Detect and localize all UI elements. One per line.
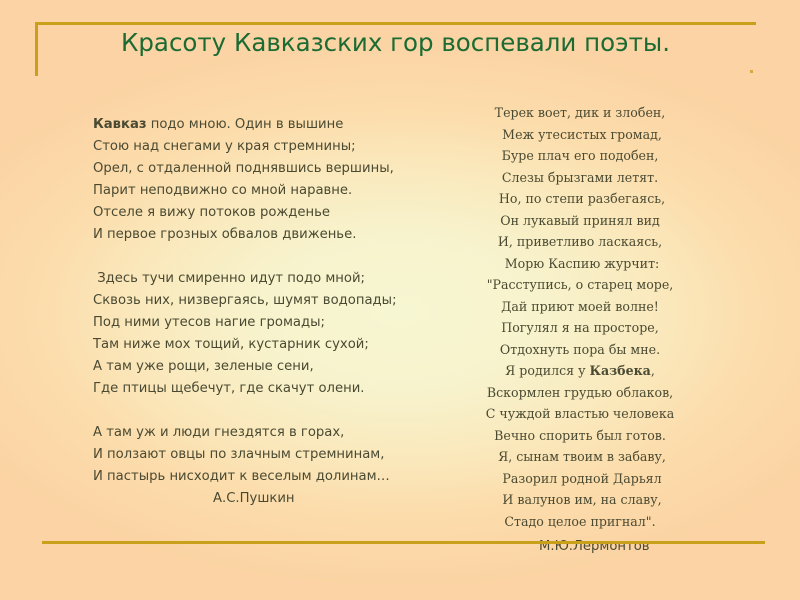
poem-line: Он лукавый принял вид xyxy=(447,210,713,232)
poem-line: Отселе я вижу потоков рожденье xyxy=(93,202,423,224)
poem-line: И первое грозных обвалов движенье. xyxy=(93,224,423,246)
right-poem-author: М.Ю.Лермонтов xyxy=(447,536,713,558)
poem-line: Морю Каспию журчит: xyxy=(447,253,713,275)
poem-keyword: Кавказ xyxy=(93,117,147,132)
poem-line: Отдохнуть пора бы мне. xyxy=(447,339,713,361)
right-poem-lines: Терек воет, дик и злобен, Меж утесистых … xyxy=(447,102,713,532)
poem-line: Вскормлен грудью облаков, xyxy=(447,382,713,404)
poem-line: Здесь тучи смиренно идут подо мной; xyxy=(93,268,423,290)
bottom-divider xyxy=(42,541,765,544)
poem-line: И ползают овцы по злачным стремнинам, xyxy=(93,444,423,466)
slide: Красоту Кавказских гор воспевали поэты. … xyxy=(0,0,800,600)
left-poem-author: А.С.Пушкин xyxy=(93,488,423,510)
poem-line: Дай приют моей волне! xyxy=(447,296,713,318)
poem-line: И пастырь нисходит к веселым долинам… xyxy=(93,466,423,488)
poem-line: С чуждой властью человека xyxy=(447,403,713,425)
poem-line: Сквозь них, низвергаясь, шумят водопады; xyxy=(93,290,423,312)
poem-line: А там уж и люди гнездятся в горах, xyxy=(93,422,423,444)
poem-line: Кавказ подо мною. Один в вышине xyxy=(93,114,423,136)
poem-line: "Расступись, о старец море, xyxy=(447,274,713,296)
poem-columns: Кавказ подо мною. Один в вышинеСтою над … xyxy=(0,0,800,600)
poem-line: Я, сынам твоим в забаву, xyxy=(447,446,713,468)
poem-line: Вечно спорить был готов. xyxy=(447,425,713,447)
poem-line: Но, по степи разбегаясь, xyxy=(447,188,713,210)
poem-line: Я родился у Казбека, xyxy=(447,360,713,382)
left-poem-column: Кавказ подо мною. Один в вышинеСтою над … xyxy=(93,114,423,510)
left-poem-stanzas: Кавказ подо мною. Один в вышинеСтою над … xyxy=(93,114,423,488)
poem-stanza: Здесь тучи смиренно идут подо мной;Сквоз… xyxy=(93,268,423,400)
poem-stanza: А там уж и люди гнездятся в горах,И полз… xyxy=(93,422,423,488)
poem-line: Стою над снегами у края стремнины; xyxy=(93,136,423,158)
poem-stanza: Кавказ подо мною. Один в вышинеСтою над … xyxy=(93,114,423,246)
poem-line: Парит неподвижно со мной наравне. xyxy=(93,180,423,202)
poem-line: Там ниже мох тощий, кустарник сухой; xyxy=(93,334,423,356)
poem-line: И, приветливо ласкаясь, xyxy=(447,231,713,253)
poem-line: Где птицы щебечут, где скачут олени. xyxy=(93,378,423,400)
poem-line: Под ними утесов нагие громады; xyxy=(93,312,423,334)
poem-line: Слезы брызгами летят. xyxy=(447,167,713,189)
poem-line: Меж утесистых громад, xyxy=(447,124,713,146)
poem-line: Погулял я на просторе, xyxy=(447,317,713,339)
poem-keyword: Казбека xyxy=(590,363,651,378)
poem-line: А там уже рощи, зеленые сени, xyxy=(93,356,423,378)
poem-line: Разорил родной Дарьял xyxy=(447,468,713,490)
poem-line: Орел, с отдаленной поднявшись вершины, xyxy=(93,158,423,180)
poem-line: И валунов им, на славу, xyxy=(447,489,713,511)
right-poem-column: Терек воет, дик и злобен, Меж утесистых … xyxy=(447,102,713,558)
poem-line: Стадо целое пригнал". xyxy=(447,511,713,533)
poem-line: Терек воет, дик и злобен, xyxy=(447,102,713,124)
poem-line: Буре плач его подобен, xyxy=(447,145,713,167)
